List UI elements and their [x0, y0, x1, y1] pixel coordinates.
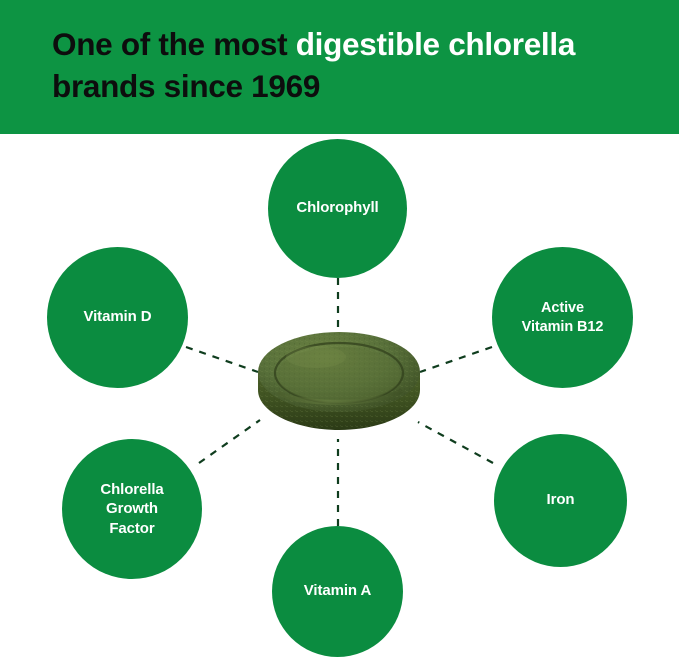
tablet-illustration: [256, 330, 422, 434]
bubble-label-active-vitamin-b12: Active Vitamin B12: [512, 299, 614, 335]
bubble-label-line-2: Vitamin B12: [522, 318, 604, 336]
bubble-label-line-3: Factor: [100, 519, 163, 539]
headline-second-line: brands since 1969: [52, 68, 320, 104]
page-title: One of the most digestible chlorella bra…: [52, 24, 662, 107]
connector-chlorella-growth-factor: [199, 420, 260, 463]
bubble-label-iron: Iron: [537, 491, 585, 510]
headline-plain-part: One of the most: [52, 26, 296, 62]
bubble-label-vitamin-d: Vitamin D: [73, 308, 161, 327]
bubble-chlorophyll[interactable]: Chlorophyll: [268, 139, 407, 278]
bubble-iron[interactable]: Iron: [494, 434, 627, 567]
headline-emphasis-part: digestible chlorella: [296, 26, 575, 62]
header-banner: One of the most digestible chlorella bra…: [0, 0, 679, 134]
bubble-chlorella-growth-factor[interactable]: Chlorella Growth Factor: [62, 439, 202, 579]
bubble-label-chlorophyll: Chlorophyll: [286, 199, 388, 218]
bubble-label-line-2: Growth: [100, 499, 163, 519]
connector-vitamin-d: [186, 347, 258, 372]
bubble-label-chlorella-growth-factor: Chlorella Growth Factor: [90, 480, 173, 539]
benefits-diagram: Chlorophyll Vitamin D Active Vitamin B12…: [0, 134, 679, 659]
bubble-label-line-1: Active: [522, 299, 604, 317]
bubble-vitamin-a[interactable]: Vitamin A: [272, 526, 403, 657]
chlorella-tablet: [256, 330, 422, 434]
bubble-vitamin-d[interactable]: Vitamin D: [47, 247, 188, 388]
connector-active-vitamin-b12: [420, 347, 492, 372]
infographic-page: One of the most digestible chlorella bra…: [0, 0, 679, 659]
tablet-highlight: [286, 346, 346, 368]
bubble-label-vitamin-a: Vitamin A: [294, 582, 381, 601]
bubble-label-line-1: Chlorella: [100, 480, 163, 500]
connector-iron: [418, 422, 493, 463]
bubble-active-vitamin-b12[interactable]: Active Vitamin B12: [492, 247, 633, 388]
